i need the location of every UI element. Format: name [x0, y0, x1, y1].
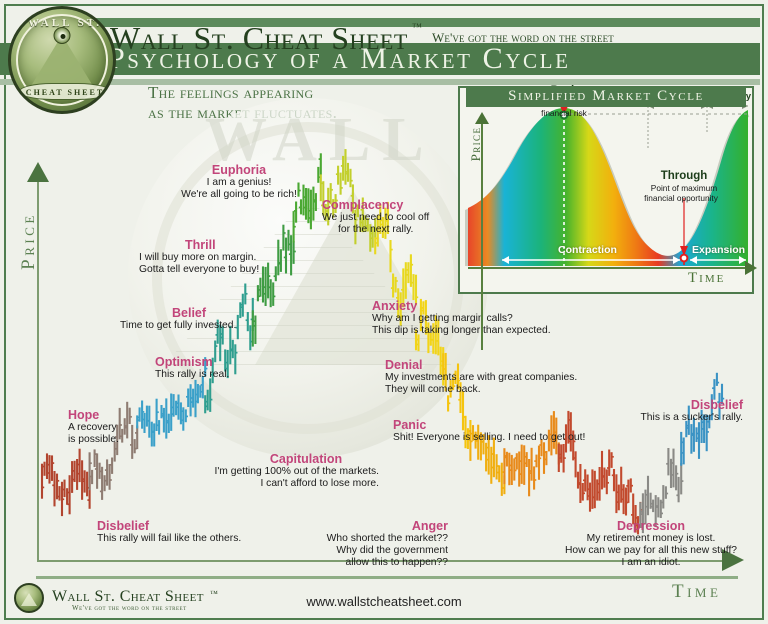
annotation-title: Hope: [68, 408, 119, 422]
footer-rule: [36, 576, 738, 579]
inset-trough-desc-2: financial opportunity: [610, 193, 752, 204]
annotation-title: Belief: [172, 306, 236, 320]
annotation-line: This dip is taking longer than expected.: [372, 325, 551, 337]
annotation-anger: Anger Who shorted the market?? Why did t…: [318, 519, 448, 570]
annotation-line: This is a sucker's rally.: [575, 412, 743, 424]
annotation-title: Anger: [318, 519, 448, 533]
annotation-title: Disbelief: [97, 519, 241, 533]
annotation-thrill: Thrill I will buy more on margin. Gotta …: [139, 238, 259, 276]
annotation-line: We're all going to be rich!: [155, 189, 323, 201]
annotation-disbelief-2: Disbelief This is a sucker's rally.: [575, 398, 743, 424]
inset-panel-title: Simplified Market Cycle: [466, 86, 746, 107]
annotation-line: How can we pay for all this new stuff?: [556, 545, 746, 557]
annotation-line: Why did the government: [318, 545, 448, 557]
annotation-line: A recovery: [68, 422, 119, 434]
annotation-line: This rally is real.: [155, 369, 229, 381]
annotation-title: Denial: [385, 358, 577, 372]
y-axis-label: Price: [18, 201, 40, 281]
annotation-depression: Depression My retirement money is lost. …: [556, 519, 746, 570]
inset-x-axis-line: [468, 267, 752, 269]
annotation-disbelief-1: Disbelief This rally will fail like the …: [97, 519, 241, 545]
annotation-capitulation: Capitulation I'm getting 100% out of the…: [179, 452, 379, 490]
annotation-title: Optimism: [155, 355, 229, 369]
inset-peak-desc-2: financial risk: [506, 108, 622, 119]
annotation-title: Thrill: [185, 238, 259, 252]
infographic-root: Wall St. Cheat Sheet ™ We've got the wor…: [0, 0, 768, 624]
inset-phase-expansion: Expansion: [692, 244, 745, 256]
inset-x-axis-label: Time: [688, 270, 725, 287]
annotation-title: Anxiety: [372, 299, 551, 313]
annotation-title: Disbelief: [575, 398, 743, 412]
annotation-line: My investments are with great companies.: [385, 372, 577, 384]
inset-chart-area: Price Time Peak Point of maximum financi…: [460, 88, 752, 292]
annotation-line: We just need to cool off: [322, 212, 429, 224]
inset-trough-desc-1: Point of maximum: [616, 183, 752, 194]
annotation-line: I'm getting 100% out of the markets.: [179, 466, 379, 478]
annotation-line: for the next rally.: [338, 224, 429, 236]
annotation-line: My retirement money is lost.: [556, 533, 746, 545]
annotation-line: Shit! Everyone is selling. I need to get…: [393, 432, 585, 444]
annotation-line: They will come back.: [385, 384, 577, 396]
annotation-line: Who shorted the market??: [318, 533, 448, 545]
annotation-title: Euphoria: [155, 163, 323, 177]
inset-phase-contraction: Contraction: [558, 244, 617, 256]
footer-url[interactable]: www.wallstcheatsheet.com: [0, 594, 768, 609]
annotation-hope: Hope A recovery is possible.: [68, 408, 119, 446]
y-axis-arrow-icon: [27, 162, 49, 182]
annotation-title: Panic: [393, 418, 585, 432]
annotation-line: I am a genius!: [155, 177, 323, 189]
annotation-line: This rally will fail like the others.: [97, 533, 241, 545]
annotation-line: Gotta tell everyone to buy!: [139, 264, 259, 276]
annotation-title: Depression: [556, 519, 746, 533]
inset-trough-title: Through: [622, 170, 746, 183]
annotation-optimism: Optimism This rally is real.: [155, 355, 229, 381]
inset-x-axis-arrow-icon: [745, 261, 757, 275]
annotation-line: I can't afford to lose more.: [179, 478, 379, 490]
annotation-anxiety: Anxiety Why am I getting margin calls? T…: [372, 299, 551, 337]
inset-y-axis-label: Price: [468, 116, 484, 172]
annotation-title: Capitulation: [179, 452, 379, 466]
annotation-line: Time to get fully invested.: [120, 320, 236, 332]
annotation-complacency: Complacency We just need to cool off for…: [322, 198, 429, 236]
annotation-line: Why am I getting margin calls?: [372, 313, 551, 325]
annotation-title: Complacency: [322, 198, 429, 212]
annotation-line: I am an idiot.: [556, 557, 746, 569]
annotation-line: I will buy more on margin.: [139, 252, 259, 264]
annotation-euphoria: Euphoria I am a genius! We're all going …: [155, 163, 323, 201]
simplified-market-cycle-panel: Price Time Peak Point of maximum financi…: [458, 86, 754, 294]
annotation-belief: Belief Time to get fully invested.: [120, 306, 236, 332]
annotation-line: is possible.: [68, 434, 119, 446]
annotation-line: allow this to happen??: [318, 557, 448, 569]
annotation-panic: Panic Shit! Everyone is selling. I need …: [393, 418, 585, 444]
annotation-denial: Denial My investments are with great com…: [385, 358, 577, 396]
